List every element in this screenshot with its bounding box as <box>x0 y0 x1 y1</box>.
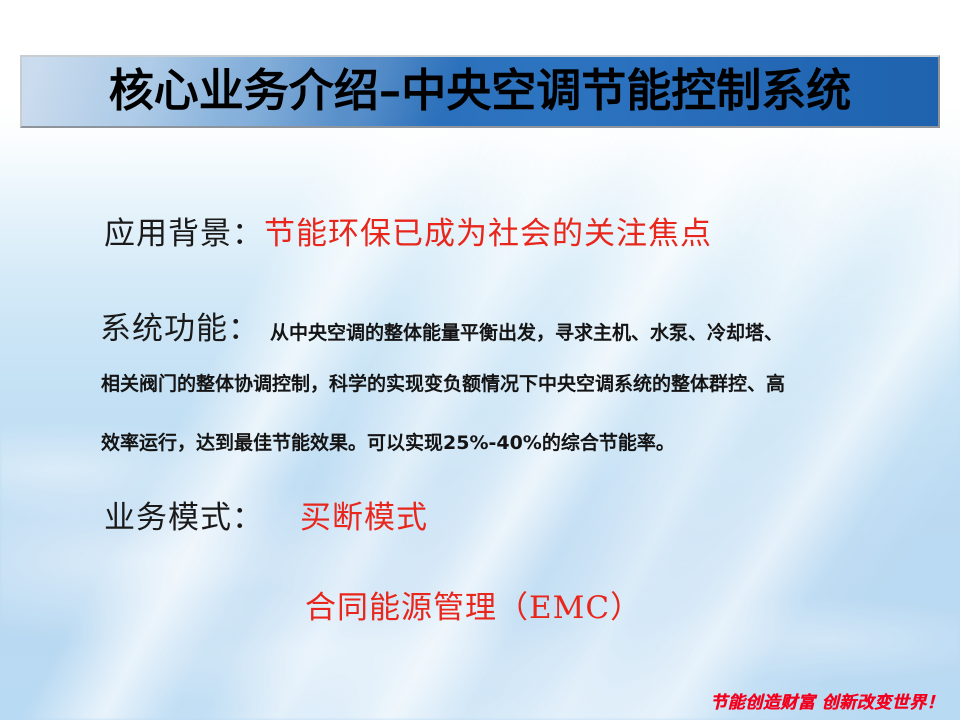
business-model-label: 业务模式： <box>104 492 264 537</box>
section-application-background: 应用背景：节能环保已成为社会的关注焦点 <box>104 208 712 253</box>
business-model-option-1: 买断模式 <box>300 492 428 537</box>
slide-root: 核心业务介绍–中央空调节能控制系统 应用背景：节能环保已成为社会的关注焦点 系统… <box>0 0 960 720</box>
application-background-value: 节能环保已成为社会的关注焦点 <box>264 216 712 252</box>
section-business-model: 业务模式： 买断模式 <box>104 492 428 537</box>
system-function-label: 系统功能： <box>100 303 260 348</box>
system-function-line-2: 相关阀门的整体协调控制，科学的实现变负额情况下中央空调系统的整体群控、高 <box>101 369 785 396</box>
footer-slogan: 节能创造财富 创新改变世界！ <box>710 688 944 713</box>
slide-content: 应用背景：节能环保已成为社会的关注焦点 系统功能： 从中央空调的整体能量平衡出发… <box>0 0 960 720</box>
system-function-line-1: 从中央空调的整体能量平衡出发，寻求主机、水泵、冷却塔、 <box>270 318 783 345</box>
application-background-label: 应用背景： <box>104 216 264 252</box>
system-function-line-3: 效率运行，达到最佳节能效果。可以实现25%-40%的综合节能率。 <box>101 428 675 455</box>
business-model-option-2: 合同能源管理（EMC） <box>305 582 642 627</box>
section-system-function: 系统功能： 从中央空调的整体能量平衡出发，寻求主机、水泵、冷却塔、 <box>100 303 783 348</box>
